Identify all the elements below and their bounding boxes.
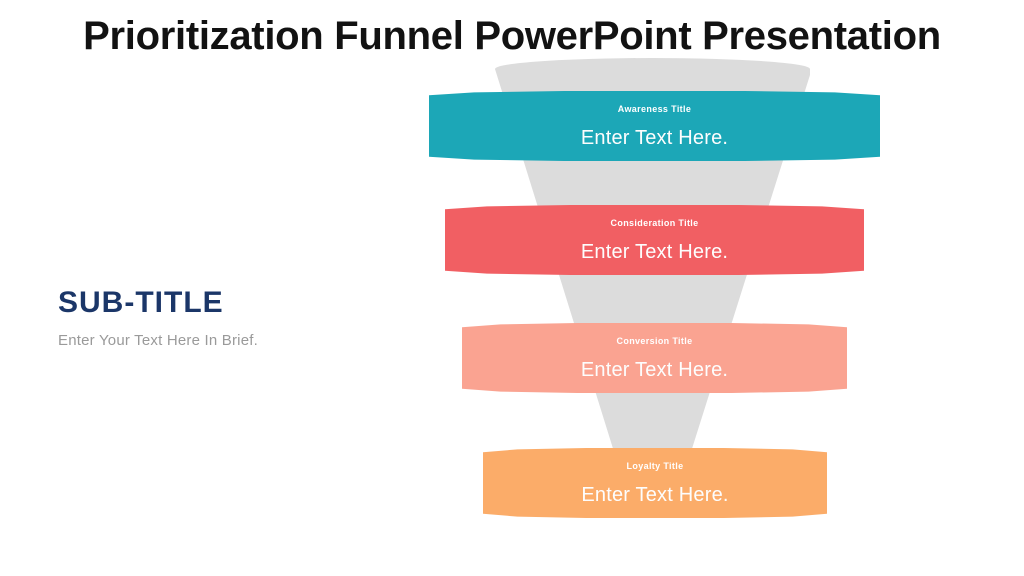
funnel-stage-loyalty[interactable]: Loyalty Title Enter Text Here. xyxy=(483,448,827,518)
funnel-stage-text: Enter Text Here. xyxy=(581,242,728,262)
funnel-diagram: Awareness Title Enter Text Here. Conside… xyxy=(400,55,900,545)
sub-title-description: Enter Your Text Here In Brief. xyxy=(58,332,388,349)
subtitle-block: SUB-TITLE Enter Your Text Here In Brief. xyxy=(58,287,388,349)
presentation-slide: Prioritization Funnel PowerPoint Present… xyxy=(0,0,1024,576)
funnel-stage-conversion[interactable]: Conversion Title Enter Text Here. xyxy=(462,323,847,393)
page-title: Prioritization Funnel PowerPoint Present… xyxy=(0,14,1024,59)
funnel-stage-awareness[interactable]: Awareness Title Enter Text Here. xyxy=(429,91,880,161)
funnel-stage-label: Conversion Title xyxy=(617,337,693,346)
funnel-stage-label: Consideration Title xyxy=(611,219,699,228)
funnel-stage-text: Enter Text Here. xyxy=(581,360,728,380)
funnel-stage-label: Awareness Title xyxy=(618,105,691,114)
funnel-stage-text: Enter Text Here. xyxy=(581,485,728,505)
funnel-stage-text: Enter Text Here. xyxy=(581,128,728,148)
funnel-stage-consideration[interactable]: Consideration Title Enter Text Here. xyxy=(445,205,864,275)
sub-title: SUB-TITLE xyxy=(58,287,388,319)
funnel-stage-label: Loyalty Title xyxy=(627,462,684,471)
